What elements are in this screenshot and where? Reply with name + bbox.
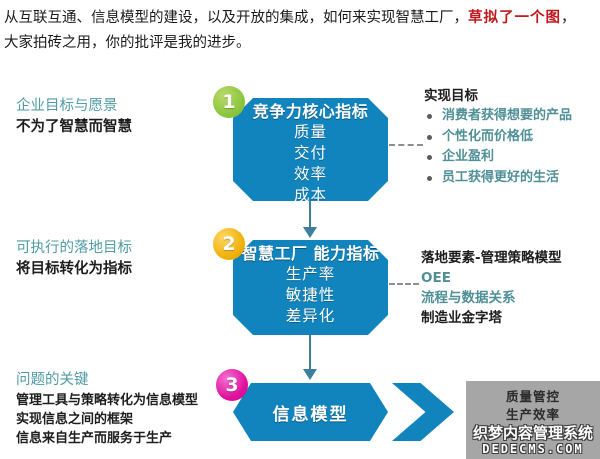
section-2-left-head: 可执行的落地目标 xyxy=(16,238,132,259)
box-1-item-3: 效率 xyxy=(233,164,388,185)
step-badge-2[interactable]: 2 xyxy=(213,228,245,260)
watermark: 织梦内容管理系统 DEDECMS.COM xyxy=(466,426,600,455)
section-3-left-line-2: 实现信息之间的框架 xyxy=(16,410,198,429)
outcome-line-1: 质量管控 xyxy=(506,388,560,406)
box-2-item-1: 生产率 xyxy=(233,264,388,285)
box-2-item-3: 差异化 xyxy=(233,306,388,327)
intro-line1-before: 从互联互通、信息模型的建设，以及开放的集成，如何来实现智慧工厂， xyxy=(4,10,468,26)
annotation-2-line-3: 流程与数据关系 xyxy=(421,288,562,308)
section-3-left-line-3: 信息来自生产而服务于生产 xyxy=(16,429,198,448)
box-1-item-2: 交付 xyxy=(233,143,388,164)
annotation-2-line-1: 落地要素-管理策略模型 xyxy=(421,248,562,268)
box-competitiveness-core-indicators[interactable]: 竞争力核心指标 质量 交付 效率 成本 xyxy=(233,98,388,201)
list-item: 消费者获得想要的产品 xyxy=(424,106,572,127)
annotation-landing-elements: 落地要素-管理策略模型 OEE 流程与数据关系 制造业金字塔 xyxy=(421,248,562,328)
annotation-1-list: 消费者获得想要的产品 个性化而价格低 企业盈利 员工获得更好的生活 xyxy=(424,106,572,188)
section-3-left-labels: 问题的关键 管理工具与策略转化为信息模型 实现信息之间的框架 信息来自生产而服务… xyxy=(16,370,198,448)
watermark-en: DEDECMS.COM xyxy=(466,443,600,455)
box-smart-factory-capability-indicators[interactable]: 智慧工厂 能力指标 生产率 敏捷性 差异化 xyxy=(233,240,388,335)
box-2-title: 智慧工厂 能力指标 xyxy=(233,240,388,264)
intro-line1-after: ， xyxy=(561,10,576,26)
section-2-left-labels: 可执行的落地目标 将目标转化为指标 xyxy=(16,238,132,280)
step-badge-1[interactable]: 1 xyxy=(213,86,245,118)
box-1-title: 竞争力核心指标 xyxy=(233,98,388,122)
annotation-2-line-2: OEE xyxy=(421,268,562,288)
section-1-left-sub: 不为了智慧而智慧 xyxy=(16,117,132,138)
outcome-line-2: 生产效率 xyxy=(506,406,560,424)
chevron-right-icon xyxy=(392,383,454,441)
section-1-left-head: 企业目标与愿景 xyxy=(16,96,132,117)
connector-arrow-1-2-head xyxy=(303,227,317,238)
box-3-title: 信息模型 xyxy=(273,400,349,425)
step-badge-3[interactable]: 3 xyxy=(216,369,248,401)
section-1-left-labels: 企业目标与愿景 不为了智慧而智慧 xyxy=(16,96,132,138)
connector-arrow-2-3-line xyxy=(309,335,311,373)
section-3-left-head: 问题的关键 xyxy=(16,370,198,391)
connector-dashed-2 xyxy=(389,283,419,285)
annotation-2-line-4: 制造业金字塔 xyxy=(421,308,562,328)
list-item: 个性化而价格低 xyxy=(424,127,572,148)
watermark-cn: 织梦内容管理系统 xyxy=(466,426,600,441)
connector-arrow-2-3-head xyxy=(303,369,317,380)
box-1-item-1: 质量 xyxy=(233,122,388,143)
list-item: 员工获得更好的生活 xyxy=(424,168,572,189)
intro-highlight: 草拟了一个图 xyxy=(468,10,561,26)
box-2-item-2: 敏捷性 xyxy=(233,285,388,306)
intro-paragraph: 从互联互通、信息模型的建设，以及开放的集成，如何来实现智慧工厂，草拟了一个图， … xyxy=(4,6,600,56)
section-3-left-line-1: 管理工具与策略转化为信息模型 xyxy=(16,391,198,410)
intro-line2: 大家拍砖之用，你的批评是我的进步。 xyxy=(4,31,600,56)
annotation-1-head: 实现目标 xyxy=(424,86,572,106)
box-information-model[interactable]: 信息模型 xyxy=(233,383,388,441)
list-item: 企业盈利 xyxy=(424,147,572,168)
box-outcomes[interactable]: 质量管控 生产效率 变更管理 织梦内容管理系统 DEDECMS.COM xyxy=(466,381,600,459)
annotation-goals: 实现目标 消费者获得想要的产品 个性化而价格低 企业盈利 员工获得更好的生活 xyxy=(424,86,572,188)
diagram-canvas: 从互联互通、信息模型的建设，以及开放的集成，如何来实现智慧工厂，草拟了一个图， … xyxy=(0,0,600,459)
connector-dashed-1 xyxy=(389,144,423,146)
section-2-left-sub: 将目标转化为指标 xyxy=(16,259,132,280)
